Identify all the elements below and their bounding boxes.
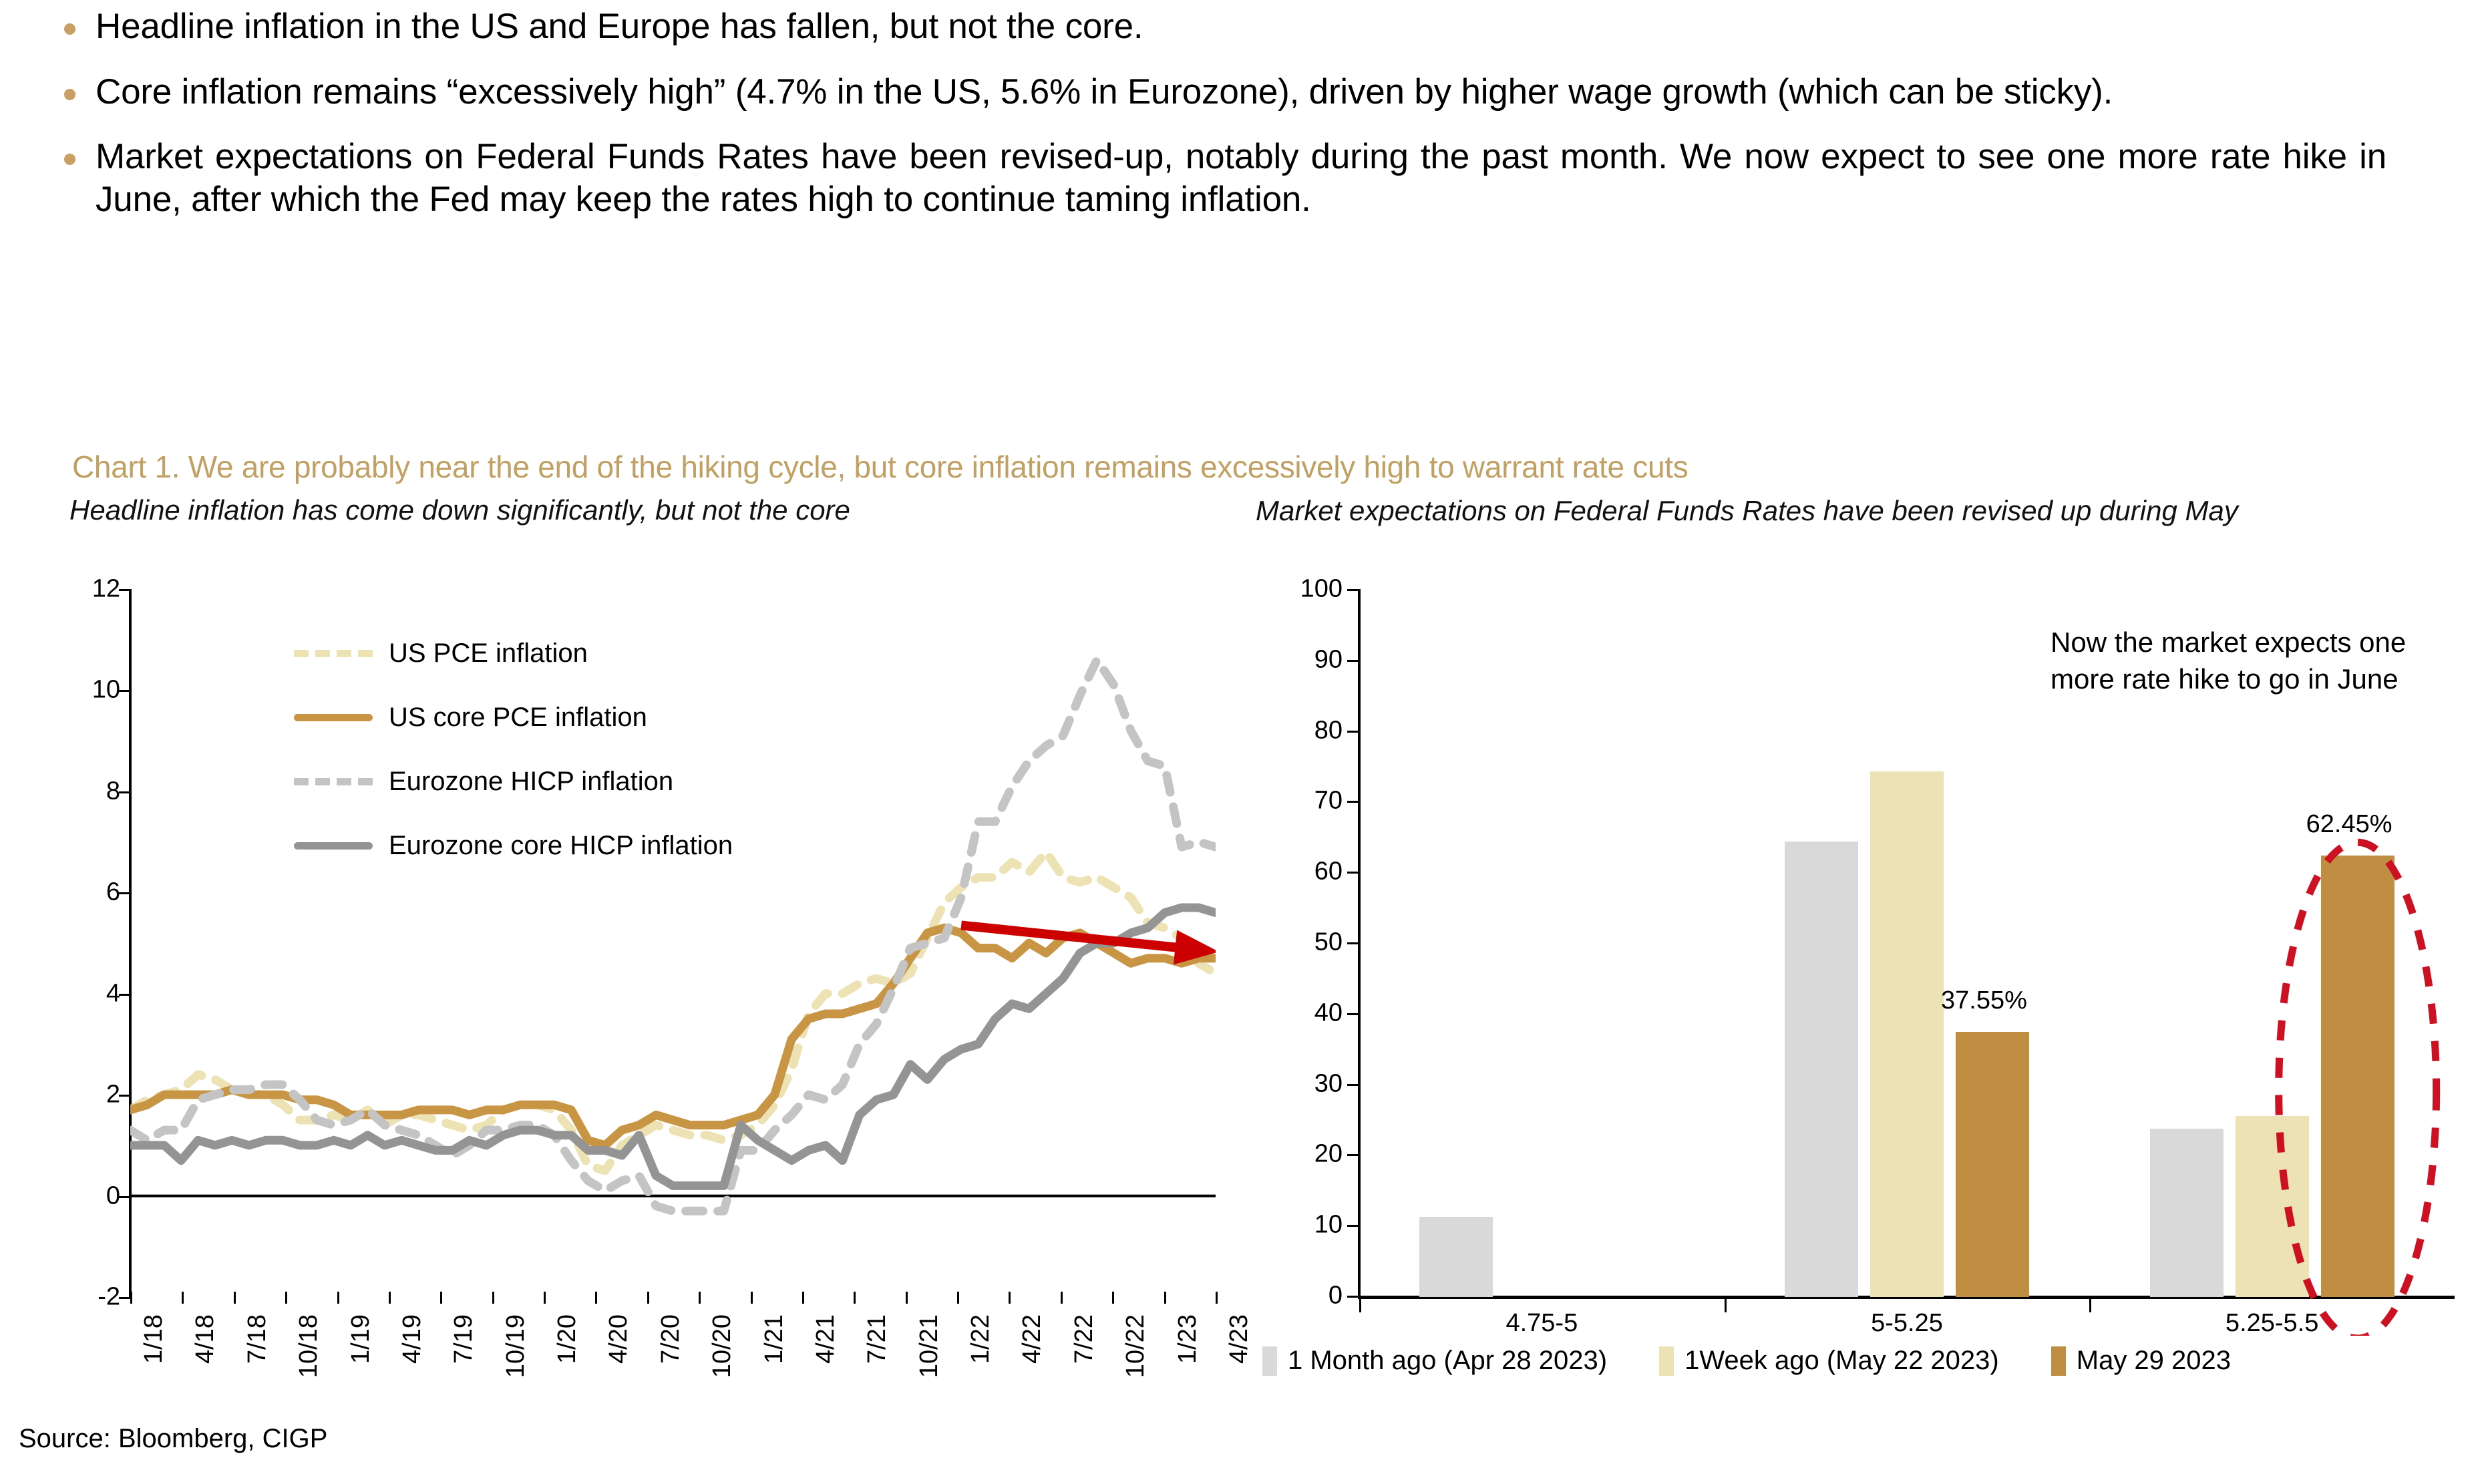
right-chart-category-label: 5-5.25 xyxy=(1871,1309,1943,1338)
legend-swatch xyxy=(1659,1346,1674,1376)
right-chart-y-tick-mark xyxy=(1347,660,1359,662)
left-chart-x-tick-label: 4/19 xyxy=(398,1314,427,1364)
left-chart-x-tick-mark xyxy=(492,1292,494,1304)
left-chart-y-tick-mark xyxy=(119,994,131,996)
left-chart-x-tick-mark xyxy=(906,1292,908,1304)
right-chart-y-tick-mark xyxy=(1347,1225,1359,1227)
right-chart-category-label: 4.75-5 xyxy=(1505,1309,1578,1338)
left-chart-y-tick: -2 xyxy=(40,1283,120,1312)
chart-title: Chart 1. We are probably near the end of… xyxy=(72,449,1688,485)
legend-item: US core PCE inflation xyxy=(294,685,733,749)
left-chart-x-tick-label: 1/22 xyxy=(966,1314,995,1364)
left-chart-x-tick-label: 4/18 xyxy=(191,1314,220,1364)
right-chart-y-tick: 50 xyxy=(1256,928,1343,957)
left-chart-y-tick: 10 xyxy=(40,676,120,705)
right-chart-y-tick: 100 xyxy=(1256,575,1343,604)
bullet-item: Core inflation remains “excessively high… xyxy=(64,71,2442,114)
left-chart-x-tick-label: 4/22 xyxy=(1018,1314,1047,1364)
left-chart-x-tick-mark xyxy=(647,1292,649,1304)
bullet-item: Headline inflation in the US and Europe … xyxy=(64,5,2442,48)
left-chart-x-tick-label: 7/20 xyxy=(657,1314,685,1364)
left-chart-x-tick-label: 4/20 xyxy=(604,1314,633,1364)
left-chart-y-tick-mark xyxy=(119,589,131,591)
left-chart-x-tick-label: 10/18 xyxy=(295,1314,323,1378)
left-chart-x-tick-label: 7/21 xyxy=(863,1314,892,1364)
bullet-text: Core inflation remains “excessively high… xyxy=(96,71,2386,114)
right-chart-subtitle: Market expectations on Federal Funds Rat… xyxy=(1256,494,2391,528)
left-chart-x-tick-mark xyxy=(1061,1292,1063,1304)
left-chart-x-tick-label: 7/22 xyxy=(1070,1314,1099,1364)
right-chart-y-tick-mark xyxy=(1347,1296,1359,1298)
legend-label: Eurozone core HICP inflation xyxy=(389,831,733,861)
legend-label: US core PCE inflation xyxy=(389,703,647,733)
right-chart-y-tick-mark xyxy=(1347,801,1359,803)
left-chart-y-tick-mark xyxy=(119,892,131,894)
bar-chart-fed-funds: 0102030405060708090100 37.55%62.45% Now … xyxy=(1242,574,2488,1362)
bullet-text: Headline inflation in the US and Europe … xyxy=(96,5,2386,48)
right-chart-y-tick: 40 xyxy=(1256,998,1343,1027)
left-chart-x-tick-mark xyxy=(595,1292,597,1304)
legend-item: 1Week ago (May 22 2023) xyxy=(1659,1346,1999,1376)
right-chart-annotation: Now the market expects one more rate hik… xyxy=(2051,624,2425,697)
right-chart-y-tick: 10 xyxy=(1256,1211,1343,1240)
legend-swatch xyxy=(2051,1346,2066,1376)
left-chart-x-tick-label: 10/21 xyxy=(915,1314,944,1378)
left-chart-x-tick-label: 10/22 xyxy=(1121,1314,1150,1378)
left-chart-x-tick-labels: 1/184/187/1810/181/194/197/1910/191/204/… xyxy=(130,1302,1216,1436)
right-chart-legend: 1 Month ago (Apr 28 2023)1Week ago (May … xyxy=(1262,1346,2283,1376)
legend-swatch-solid xyxy=(294,842,373,850)
left-chart-x-tick-mark xyxy=(1216,1292,1218,1304)
bar-value-label: 37.55% xyxy=(1941,986,2027,1015)
left-chart-y-tick: 8 xyxy=(40,777,120,805)
bar xyxy=(1785,842,1858,1297)
legend-swatch-dashed xyxy=(294,650,373,657)
right-chart-y-tick-mark xyxy=(1347,1154,1359,1156)
legend-label: 1 Month ago (Apr 28 2023) xyxy=(1288,1346,1607,1376)
bar xyxy=(1870,771,1944,1297)
bar-value-label: 62.45% xyxy=(2306,810,2392,839)
left-chart-x-tick-label: 7/18 xyxy=(243,1314,272,1364)
bar xyxy=(2150,1129,2224,1297)
right-chart-y-tick-mark xyxy=(1347,872,1359,874)
left-chart-y-tick: 0 xyxy=(40,1181,120,1210)
left-chart-legend: US PCE inflationUS core PCE inflationEur… xyxy=(294,621,733,878)
left-chart-x-tick-label: 1/21 xyxy=(760,1314,789,1364)
left-chart-series-1 xyxy=(130,928,1216,1145)
left-chart-x-tick-mark xyxy=(544,1292,546,1304)
legend-item: 1 Month ago (Apr 28 2023) xyxy=(1262,1346,1607,1376)
legend-item: May 29 2023 xyxy=(2051,1346,2231,1376)
bullet-dot-icon xyxy=(64,154,75,165)
left-chart-x-tick-mark xyxy=(751,1292,753,1304)
left-chart-x-tick-label: 10/20 xyxy=(708,1314,737,1378)
right-chart-category-label: 5.25-5.5 xyxy=(2226,1309,2318,1338)
left-chart-y-tick-mark xyxy=(119,1196,131,1198)
right-chart-y-tick: 30 xyxy=(1256,1069,1343,1098)
right-chart-y-tick: 80 xyxy=(1256,716,1343,745)
right-chart-y-tick-mark xyxy=(1347,731,1359,733)
legend-item: Eurozone core HICP inflation xyxy=(294,813,733,878)
left-chart-x-tick-mark xyxy=(285,1292,287,1304)
left-chart-y-tick: 6 xyxy=(40,878,120,907)
right-chart-x-tick-mark xyxy=(1359,1299,1361,1312)
legend-label: May 29 2023 xyxy=(2077,1346,2231,1376)
right-chart-x-tick-mark xyxy=(2089,1299,2091,1312)
left-chart-x-tick-mark xyxy=(440,1292,442,1304)
left-chart-x-tick-mark xyxy=(130,1292,132,1304)
bar xyxy=(1419,1217,1493,1297)
bullet-list: Headline inflation in the US and Europe … xyxy=(64,5,2442,243)
bullet-text: Market expectations on Federal Funds Rat… xyxy=(96,136,2386,220)
left-chart-x-tick-label: 1/18 xyxy=(140,1314,168,1364)
right-chart-y-tick-mark xyxy=(1347,589,1359,591)
left-chart-x-tick-label: 1/19 xyxy=(347,1314,375,1364)
left-chart-y-tick-mark xyxy=(119,1297,131,1299)
legend-swatch-dashed xyxy=(294,778,373,785)
left-chart-x-tick-label: 7/19 xyxy=(450,1314,478,1364)
left-chart-x-tick-mark xyxy=(1112,1292,1114,1304)
left-chart-x-tick-label: 10/19 xyxy=(502,1314,530,1378)
right-chart-y-tick-mark xyxy=(1347,1084,1359,1086)
left-chart-y-tick: 2 xyxy=(40,1081,120,1109)
left-chart-x-tick-mark xyxy=(854,1292,856,1304)
right-chart-y-tick: 70 xyxy=(1256,787,1343,815)
left-chart-y-tick-mark xyxy=(119,690,131,692)
left-chart-y-tick-mark xyxy=(119,1095,131,1097)
left-chart-x-tick-mark xyxy=(234,1292,236,1304)
source-note: Source: Bloomberg, CIGP xyxy=(19,1424,327,1454)
right-chart-y-tick: 60 xyxy=(1256,858,1343,886)
legend-label: Eurozone HICP inflation xyxy=(389,767,673,797)
left-chart-y-tick: 4 xyxy=(40,979,120,1008)
legend-label: 1Week ago (May 22 2023) xyxy=(1684,1346,1999,1376)
bar xyxy=(1956,1032,2029,1297)
right-chart-y-tick: 20 xyxy=(1256,1140,1343,1169)
bar xyxy=(2236,1116,2309,1297)
left-chart-y-tick: 12 xyxy=(40,575,120,604)
right-chart-y-tick: 90 xyxy=(1256,645,1343,674)
left-chart-x-tick-mark xyxy=(1164,1292,1166,1304)
right-chart-x-tick-mark xyxy=(1725,1299,1727,1312)
left-chart-x-tick-mark xyxy=(699,1292,701,1304)
left-chart-x-tick-mark xyxy=(337,1292,339,1304)
left-chart-x-tick-label: 4/21 xyxy=(812,1314,840,1364)
bullet-dot-icon xyxy=(64,23,75,35)
left-chart-x-tick-mark xyxy=(802,1292,804,1304)
legend-label: US PCE inflation xyxy=(389,638,588,669)
right-chart-y-tick: 0 xyxy=(1256,1282,1343,1310)
legend-item: Eurozone HICP inflation xyxy=(294,749,733,813)
legend-swatch-solid xyxy=(294,714,373,721)
legend-item: US PCE inflation xyxy=(294,621,733,685)
left-chart-x-tick-label: 1/23 xyxy=(1174,1314,1202,1364)
left-chart-y-tick-mark xyxy=(119,791,131,793)
right-chart-y-tick-mark xyxy=(1347,1013,1359,1015)
left-chart-x-tick-mark xyxy=(957,1292,959,1304)
left-chart-x-tick-mark xyxy=(1009,1292,1011,1304)
bullet-dot-icon xyxy=(64,89,75,100)
left-chart-x-tick-mark xyxy=(389,1292,391,1304)
bullet-item: Market expectations on Federal Funds Rat… xyxy=(64,136,2442,220)
left-chart-x-tick-label: 1/20 xyxy=(553,1314,582,1364)
left-chart-x-tick-mark xyxy=(182,1292,184,1304)
bar xyxy=(2321,856,2394,1297)
right-chart-y-tick-mark xyxy=(1347,942,1359,944)
left-chart-subtitle: Headline inflation has come down signifi… xyxy=(69,494,850,526)
legend-swatch xyxy=(1262,1346,1277,1376)
